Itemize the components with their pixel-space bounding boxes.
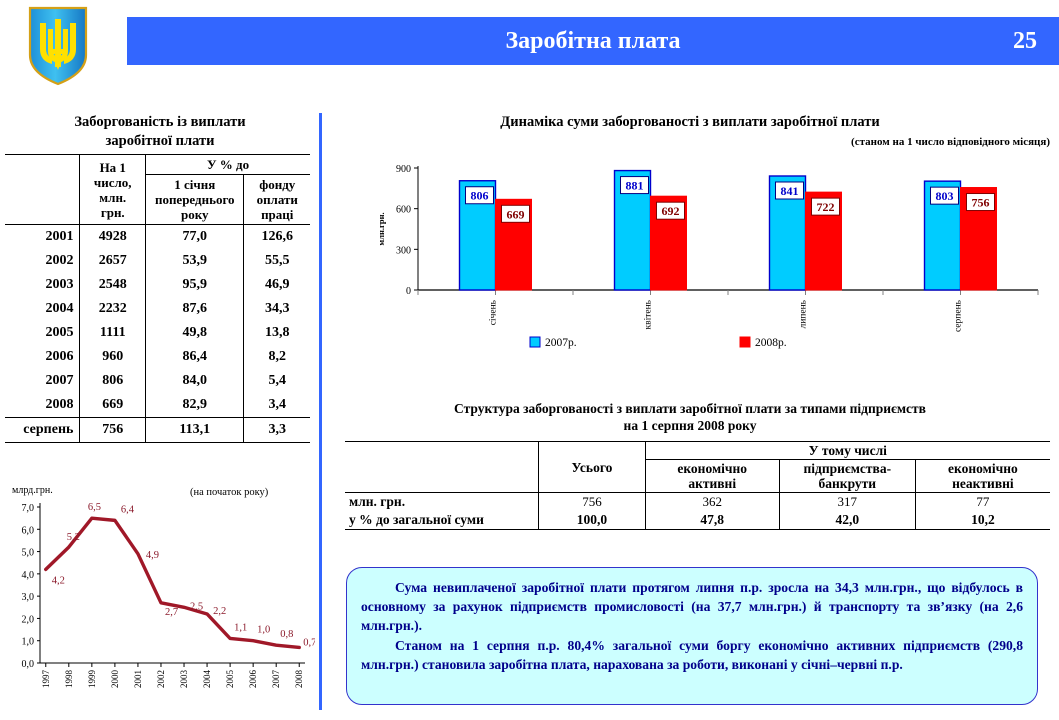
bar-chart-title: Динаміка суми заборгованості з виплати з…	[340, 114, 1040, 131]
left-table-title-line2: заробітної плати	[106, 133, 215, 149]
ukraine-coat-of-arms-icon	[26, 5, 90, 87]
header-band: Заробітна плата 25	[127, 17, 1059, 65]
line-chart-xtick: 2007	[271, 670, 281, 689]
header-economically-active: економічно активні	[645, 460, 779, 493]
page-number: 25	[1013, 17, 1037, 65]
line-chart-point-label: 2,5	[190, 601, 203, 612]
line-chart-ytick: 0,0	[22, 659, 35, 670]
line-chart-xtick: 2001	[133, 670, 143, 688]
table-row: 2001 4928 77,0 126,6	[5, 225, 310, 250]
line-chart-point-label: 4,2	[52, 575, 65, 586]
line-chart-ytick: 5,0	[22, 548, 35, 559]
table-corner-cell	[5, 155, 80, 225]
table-header-row: На 1 число, млн. грн. У % до	[5, 155, 310, 175]
line-chart-ylabel: млрд.грн.	[12, 485, 53, 496]
bar-chart-ytick: 900	[396, 164, 411, 175]
table-row: 2008 669 82,9 3,4	[5, 393, 310, 418]
line-chart-point-label: 0,7	[303, 637, 315, 648]
table-row: 2005 1111 49,8 13,8	[5, 321, 310, 345]
line-chart-ytick: 3,0	[22, 592, 35, 603]
table-row: 2006 960 86,4 8,2	[5, 345, 310, 369]
struct-title-line2: на 1 серпня 2008 року	[624, 418, 757, 433]
bar-chart: 0300600900млн.грн.806669січень881692квіт…	[370, 160, 1050, 375]
header-wage-fund: фонду оплати праці	[244, 175, 310, 225]
bar-chart-subtitle: (станом на 1 число відповідного місяця)	[340, 136, 1050, 148]
struct-corner-cell	[345, 442, 539, 493]
table-row: 2003 2548 95,9 46,9	[5, 273, 310, 297]
structure-table: Усього У тому числі економічно активні п…	[345, 441, 1050, 530]
line-chart-ytick: 1,0	[22, 637, 35, 648]
bar-chart-ytick: 300	[396, 245, 411, 256]
bar-chart-xtick: квітень	[644, 299, 654, 329]
header-percent-group: У % до	[146, 155, 310, 175]
note-paragraph-2: Станом на 1 серпня п.р. 80,4% загальної …	[361, 636, 1023, 674]
bar-chart-xtick: липень	[799, 299, 809, 328]
legend-label-2008: 2008р.	[755, 337, 787, 349]
line-chart-xtick: 2008	[294, 670, 304, 689]
left-table-title-line1: Заборгованість із виплати	[74, 114, 245, 130]
bar-label-2007: 841	[781, 184, 799, 198]
table-header-row: Усього У тому числі	[345, 442, 1050, 460]
header-prev-year: 1 січня попереднього року	[146, 175, 244, 225]
note-paragraph-1: Сума невиплаченої заробітної плати протя…	[361, 578, 1023, 635]
line-chart-point-label: 0,8	[280, 629, 293, 640]
line-chart-point-label: 2,2	[213, 606, 226, 617]
header-economically-inactive: економічно неактивні	[915, 460, 1050, 493]
table-row: 2002 2657 53,9 55,5	[5, 249, 310, 273]
line-chart-xtick: 2002	[156, 670, 166, 688]
bar-label-2007: 806	[471, 189, 489, 203]
line-chart-xtick: 1998	[64, 670, 74, 689]
bar-label-2008: 756	[972, 196, 990, 210]
header-bankrupt: підприємства- банкрути	[779, 460, 915, 493]
line-chart-note: (на початок року)	[190, 487, 268, 498]
line-chart-point-label: 6,4	[121, 504, 135, 515]
vertical-divider	[319, 113, 322, 710]
line-chart-point-label: 2,7	[165, 607, 178, 618]
line-chart-point-label: 6,5	[88, 502, 101, 513]
line-chart-xtick: 1997	[41, 670, 51, 689]
left-table-title: Заборгованість із виплати заробітної пла…	[20, 113, 300, 151]
bar-label-2008: 669	[507, 207, 525, 221]
header-on-date: На 1 число, млн. грн.	[80, 155, 146, 225]
bar-label-2008: 692	[662, 204, 680, 218]
line-chart-ytick: 6,0	[22, 525, 35, 536]
bar-label-2007: 803	[936, 189, 954, 203]
header-total: Усього	[539, 442, 645, 493]
line-chart-ytick: 4,0	[22, 570, 35, 581]
line-chart-xtick: 1999	[87, 670, 97, 689]
bar-chart-ytick: 600	[396, 205, 411, 216]
line-chart-xtick: 2004	[202, 670, 212, 689]
line-chart-point-label: 1,1	[234, 622, 247, 633]
line-chart-xtick: 2006	[248, 670, 258, 689]
table-row: серпень 756 113,1 3,3	[5, 418, 310, 443]
bar-chart-svg: 0300600900млн.грн.806669січень881692квіт…	[370, 160, 1050, 375]
table-row: 2004 2232 87,6 34,3	[5, 297, 310, 321]
line-chart-ytick: 7,0	[22, 503, 35, 514]
line-chart-xtick: 2003	[179, 670, 189, 689]
bar-chart-xtick: серпень	[954, 299, 964, 332]
bar-chart-ylabel: млн.грн.	[376, 212, 386, 245]
table-row: 2007 806 84,0 5,4	[5, 369, 310, 393]
struct-title-line1: Структура заборгованості з виплати зароб…	[454, 401, 926, 416]
line-chart-xtick: 2005	[225, 670, 235, 689]
line-chart-point-label: 5,2	[67, 532, 80, 543]
table-row: млн. грн. 756 362 317 77	[345, 493, 1050, 512]
bar-chart-xtick: січень	[489, 299, 499, 325]
line-chart-ytick: 2,0	[22, 614, 35, 625]
line-chart-xtick: 2000	[110, 670, 120, 689]
table-row: у % до загальної суми 100,0 47,8 42,0 10…	[345, 511, 1050, 530]
debt-table: На 1 число, млн. грн. У % до 1 січня поп…	[5, 154, 310, 443]
bar-chart-ytick: 0	[406, 286, 411, 297]
line-chart-svg: 0,01,02,03,04,05,06,07,01997199819992000…	[0, 485, 315, 715]
legend-label-2007: 2007р.	[545, 337, 577, 349]
bar-label-2007: 881	[626, 179, 644, 193]
bar-label-2008: 722	[817, 200, 835, 214]
line-chart: млрд.грн. (на початок року) 0,01,02,03,0…	[0, 485, 315, 715]
header-including-group: У тому числі	[645, 442, 1050, 460]
line-chart-point-label: 4,9	[146, 550, 159, 561]
line-chart-point-label: 1,0	[257, 625, 270, 636]
summary-note-box: Сума невиплаченої заробітної плати протя…	[346, 567, 1038, 705]
struct-table-title: Структура заборгованості з виплати зароб…	[340, 400, 1040, 434]
page-title: Заробітна плата	[127, 17, 1059, 65]
